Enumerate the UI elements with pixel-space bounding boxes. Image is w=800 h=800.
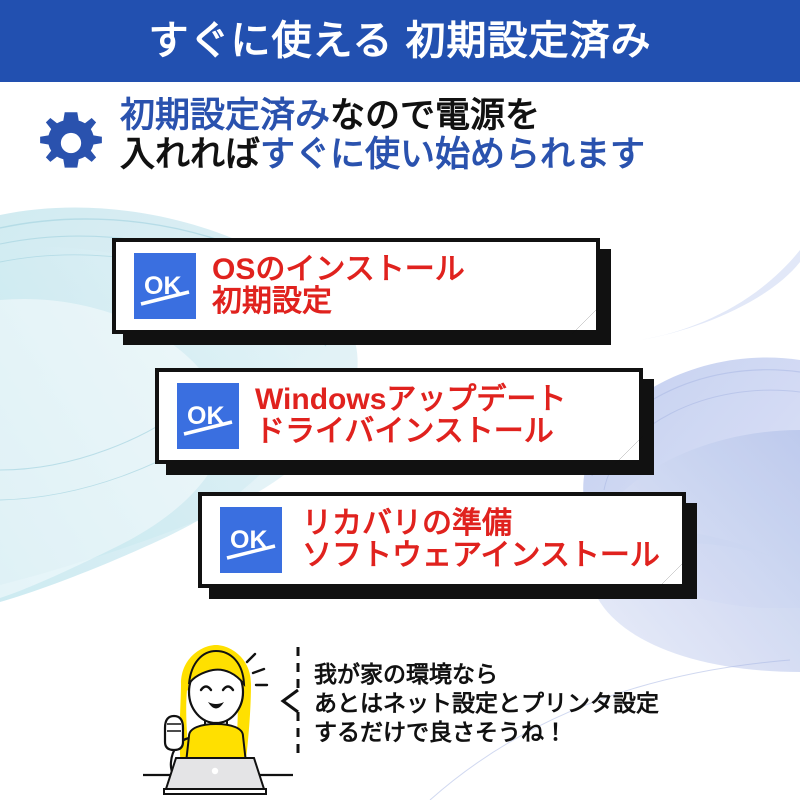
headline-line-2: 入れればすぐに使い始められます	[120, 135, 645, 174]
feature-card-line-1: リカバリの準備	[302, 508, 660, 540]
feature-card-text: リカバリの準備 ソフトウェアインストール	[302, 508, 660, 572]
headline-line-1: 初期設定済みなので電源を	[120, 96, 645, 135]
ok-badge-icon: OK	[177, 383, 239, 449]
folded-corner-icon	[658, 560, 686, 588]
headline-line2-black: 入れれば	[120, 135, 260, 174]
fist	[165, 716, 183, 750]
ok-badge-icon: OK	[220, 507, 282, 573]
laptop-base	[164, 789, 266, 794]
ok-badge-icon: OK	[134, 253, 196, 319]
header-banner: すぐに使える 初期設定済み	[0, 0, 800, 82]
feature-card-line-2: ソフトウェアインストール	[302, 540, 660, 572]
feature-card-line-2: ドライバインストール	[255, 416, 566, 448]
headline-block: 初期設定済みなので電源を 入れればすぐに使い始められます	[0, 96, 800, 183]
banner-title: すぐに使える 初期設定済み	[149, 21, 652, 61]
headline-line1-blue: 初期設定済み	[120, 96, 330, 135]
feature-card: OK リカバリの準備 ソフトウェアインストール	[198, 492, 686, 588]
feature-card: OK OSのインストール 初期設定	[112, 238, 600, 334]
speech-lines: 我が家の環境なら あとはネット設定とプリンタ設定 するだけで良さそうね！	[314, 660, 659, 747]
feature-card-line-1: Windowsアップデート	[255, 384, 566, 416]
speech-line-3: するだけで良さそうね！	[314, 718, 659, 747]
feature-card: OK Windowsアップデート ドライバインストール	[155, 368, 643, 464]
speech-line-1: 我が家の環境なら	[314, 660, 659, 689]
feature-card-text: Windowsアップデート ドライバインストール	[255, 384, 566, 448]
woman-with-laptop-illustration	[143, 640, 293, 800]
folded-corner-icon	[572, 306, 600, 334]
headline-line2-blue: すぐに使い始められます	[260, 135, 645, 174]
speech-bracket-icon	[278, 645, 304, 762]
poster-root: すぐに使える 初期設定済み 初期設定済みなので電源を 入れればすぐに使い始められ…	[0, 0, 800, 800]
headline-text: 初期設定済みなので電源を 入れればすぐに使い始められます	[120, 96, 645, 174]
speech-block: 我が家の環境なら あとはネット設定とプリンタ設定 するだけで良さそうね！	[278, 645, 659, 762]
speech-line-2: あとはネット設定とプリンタ設定	[314, 689, 659, 718]
feature-card-text: OSのインストール 初期設定	[212, 254, 465, 318]
gear-icon	[36, 108, 106, 183]
feature-card-line-1: OSのインストール	[212, 254, 465, 286]
feature-card-line-2: 初期設定	[212, 286, 465, 318]
folded-corner-icon	[615, 436, 643, 464]
headline-line1-black: なので電源を	[330, 96, 540, 135]
